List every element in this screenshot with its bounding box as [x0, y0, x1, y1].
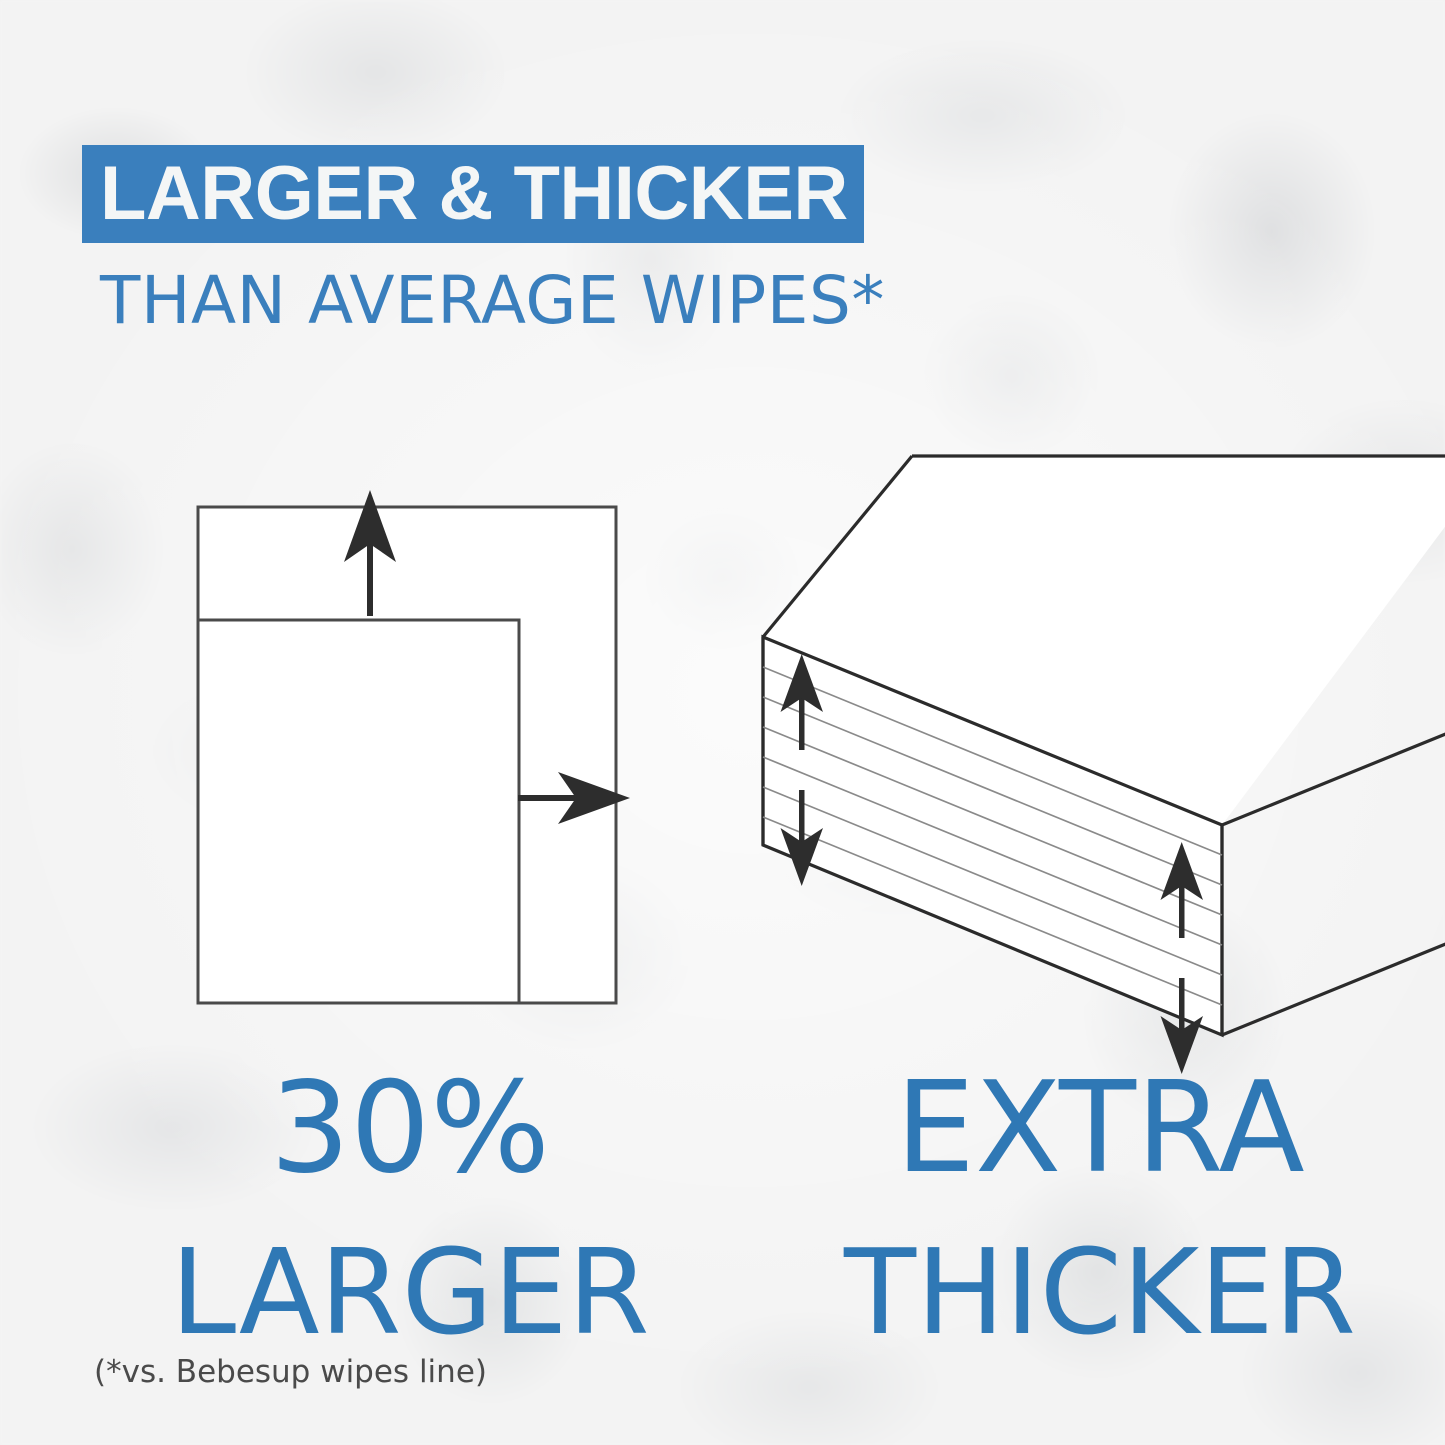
stack-bottom-right-edge	[1222, 930, 1445, 1035]
caption-right-panel: EXTRA THICKER	[800, 1065, 1400, 1351]
caption-left-line-1: 30%	[130, 1065, 690, 1191]
caption-right-line-1: EXTRA	[800, 1065, 1400, 1191]
headline-banner-label: LARGER & THICKER	[100, 156, 848, 232]
size-comparison-diagram	[150, 470, 670, 1040]
caption-left-line-2: LARGER	[130, 1233, 690, 1351]
caption-left-panel: 30% LARGER	[130, 1065, 690, 1351]
caption-right-line-2: THICKER	[800, 1233, 1400, 1351]
infographic-canvas: LARGER & THICKER THAN AVERAGE WIPES*	[0, 0, 1445, 1445]
thickness-stack-diagram	[720, 420, 1445, 1070]
subheadline-label: THAN AVERAGE WIPES*	[100, 268, 885, 334]
headline-banner: LARGER & THICKER	[82, 145, 864, 243]
footnote-label: (*vs. Bebesup wipes line)	[94, 1357, 487, 1388]
average-wipe-outline	[198, 620, 519, 1003]
